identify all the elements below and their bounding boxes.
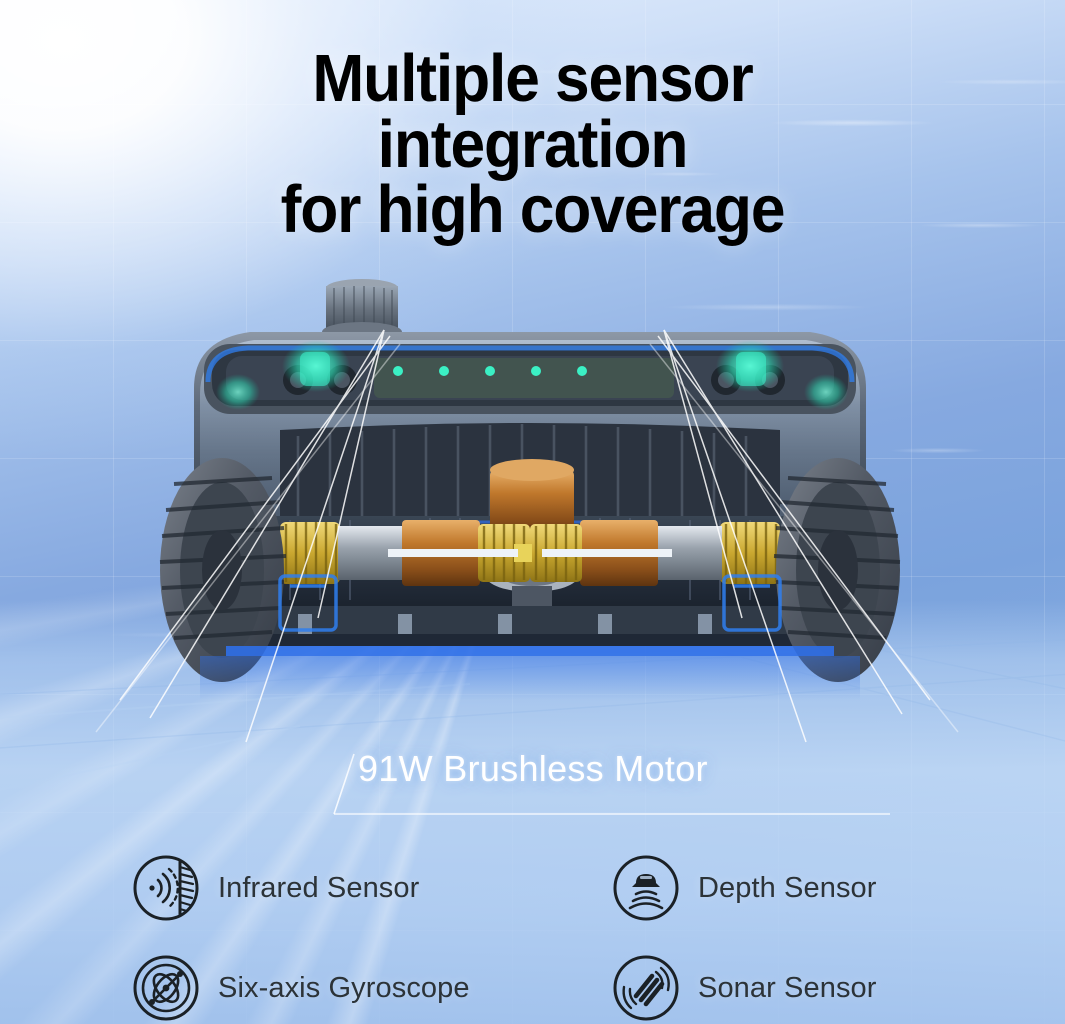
feature-label-six-axis-gyroscope: Six-axis Gyroscope	[218, 972, 470, 1005]
chassis-base	[226, 606, 834, 646]
motor-callout-label: 91W Brushless Motor	[358, 748, 708, 790]
feature-item-sonar-sensor[interactable]: Sonar Sensor	[612, 938, 1012, 1024]
feature-item-depth-sensor[interactable]: Depth Sensor	[612, 838, 1012, 938]
feature-item-infrared-sensor[interactable]: Infrared Sensor	[132, 838, 612, 938]
robot-cutaway-illustration	[130, 270, 930, 740]
six-axis-gyroscope-icon	[132, 954, 200, 1022]
motor-callout: 91W Brushless Motor	[330, 748, 930, 818]
feature-label-sonar-sensor: Sonar Sensor	[698, 972, 877, 1005]
feature-item-six-axis-gyroscope[interactable]: Six-axis Gyroscope	[132, 938, 612, 1024]
depth-sensor-icon	[612, 854, 680, 922]
sensor-bar	[204, 340, 856, 414]
product-feature-graphic: Multiple sensor integration for high cov…	[0, 0, 1065, 1024]
page-title: Multiple sensor integration for high cov…	[37, 46, 1027, 243]
feature-list: Infrared Sensor Depth Sensor	[132, 838, 1012, 1024]
sonar-sensor-icon	[612, 954, 680, 1022]
drive-shaft-left	[388, 549, 518, 557]
under-glow-strip	[226, 646, 834, 656]
feature-label-depth-sensor: Depth Sensor	[698, 872, 877, 905]
feature-label-infrared-sensor: Infrared Sensor	[218, 872, 419, 905]
under-glow-spill	[200, 656, 860, 700]
drive-shaft	[542, 549, 672, 557]
infrared-sensor-icon	[132, 854, 200, 922]
